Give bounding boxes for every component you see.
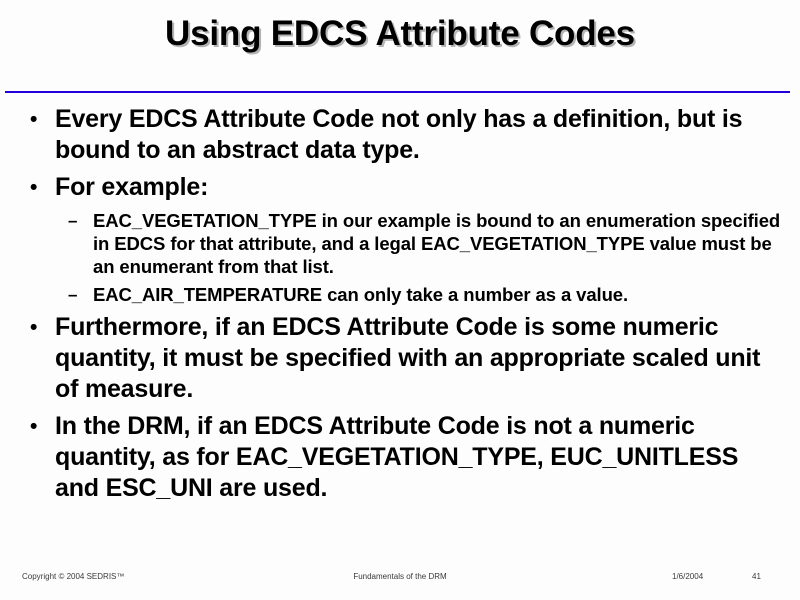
sub-list-item: – EAC_VEGETATION_TYPE in our example is …	[18, 209, 786, 278]
bullet-marker-icon: •	[30, 312, 37, 343]
list-item: • In the DRM, if an EDCS Attribute Code …	[18, 411, 786, 504]
list-item: • For example:	[18, 172, 786, 203]
sub-list-item: – EAC_AIR_TEMPERATURE can only take a nu…	[18, 283, 786, 306]
title-area: Using EDCS Attribute Codes	[0, 16, 800, 53]
sub-list-item-text: EAC_VEGETATION_TYPE in our example is bo…	[93, 210, 780, 277]
bullet-marker-icon: •	[30, 411, 37, 442]
list-item-text: Furthermore, if an EDCS Attribute Code i…	[55, 313, 760, 403]
page-title: Using EDCS Attribute Codes	[0, 16, 800, 53]
list-item-text: Every EDCS Attribute Code not only has a…	[55, 105, 742, 164]
title-divider	[5, 91, 790, 93]
bullet-marker-icon: •	[30, 172, 37, 203]
list-item: • Furthermore, if an EDCS Attribute Code…	[18, 312, 786, 405]
slide-body: • Every EDCS Attribute Code not only has…	[18, 104, 786, 510]
dash-marker-icon: –	[68, 209, 77, 232]
bullet-marker-icon: •	[30, 104, 37, 135]
list-item: • Every EDCS Attribute Code not only has…	[18, 104, 786, 166]
sub-list: – EAC_VEGETATION_TYPE in our example is …	[18, 209, 786, 306]
list-item-text: In the DRM, if an EDCS Attribute Code is…	[55, 412, 738, 502]
dash-marker-icon: –	[68, 283, 77, 306]
footer-date: 1/6/2004	[672, 572, 703, 581]
sub-list-item-text: EAC_AIR_TEMPERATURE can only take a numb…	[93, 284, 628, 305]
list-item-text: For example:	[55, 173, 208, 201]
footer-slide-number: 41	[752, 572, 761, 581]
presentation-slide: Using EDCS Attribute Codes • Every EDCS …	[0, 0, 800, 600]
slide-footer: Copyright © 2004 SEDRIS™ Fundamentals of…	[0, 572, 800, 588]
